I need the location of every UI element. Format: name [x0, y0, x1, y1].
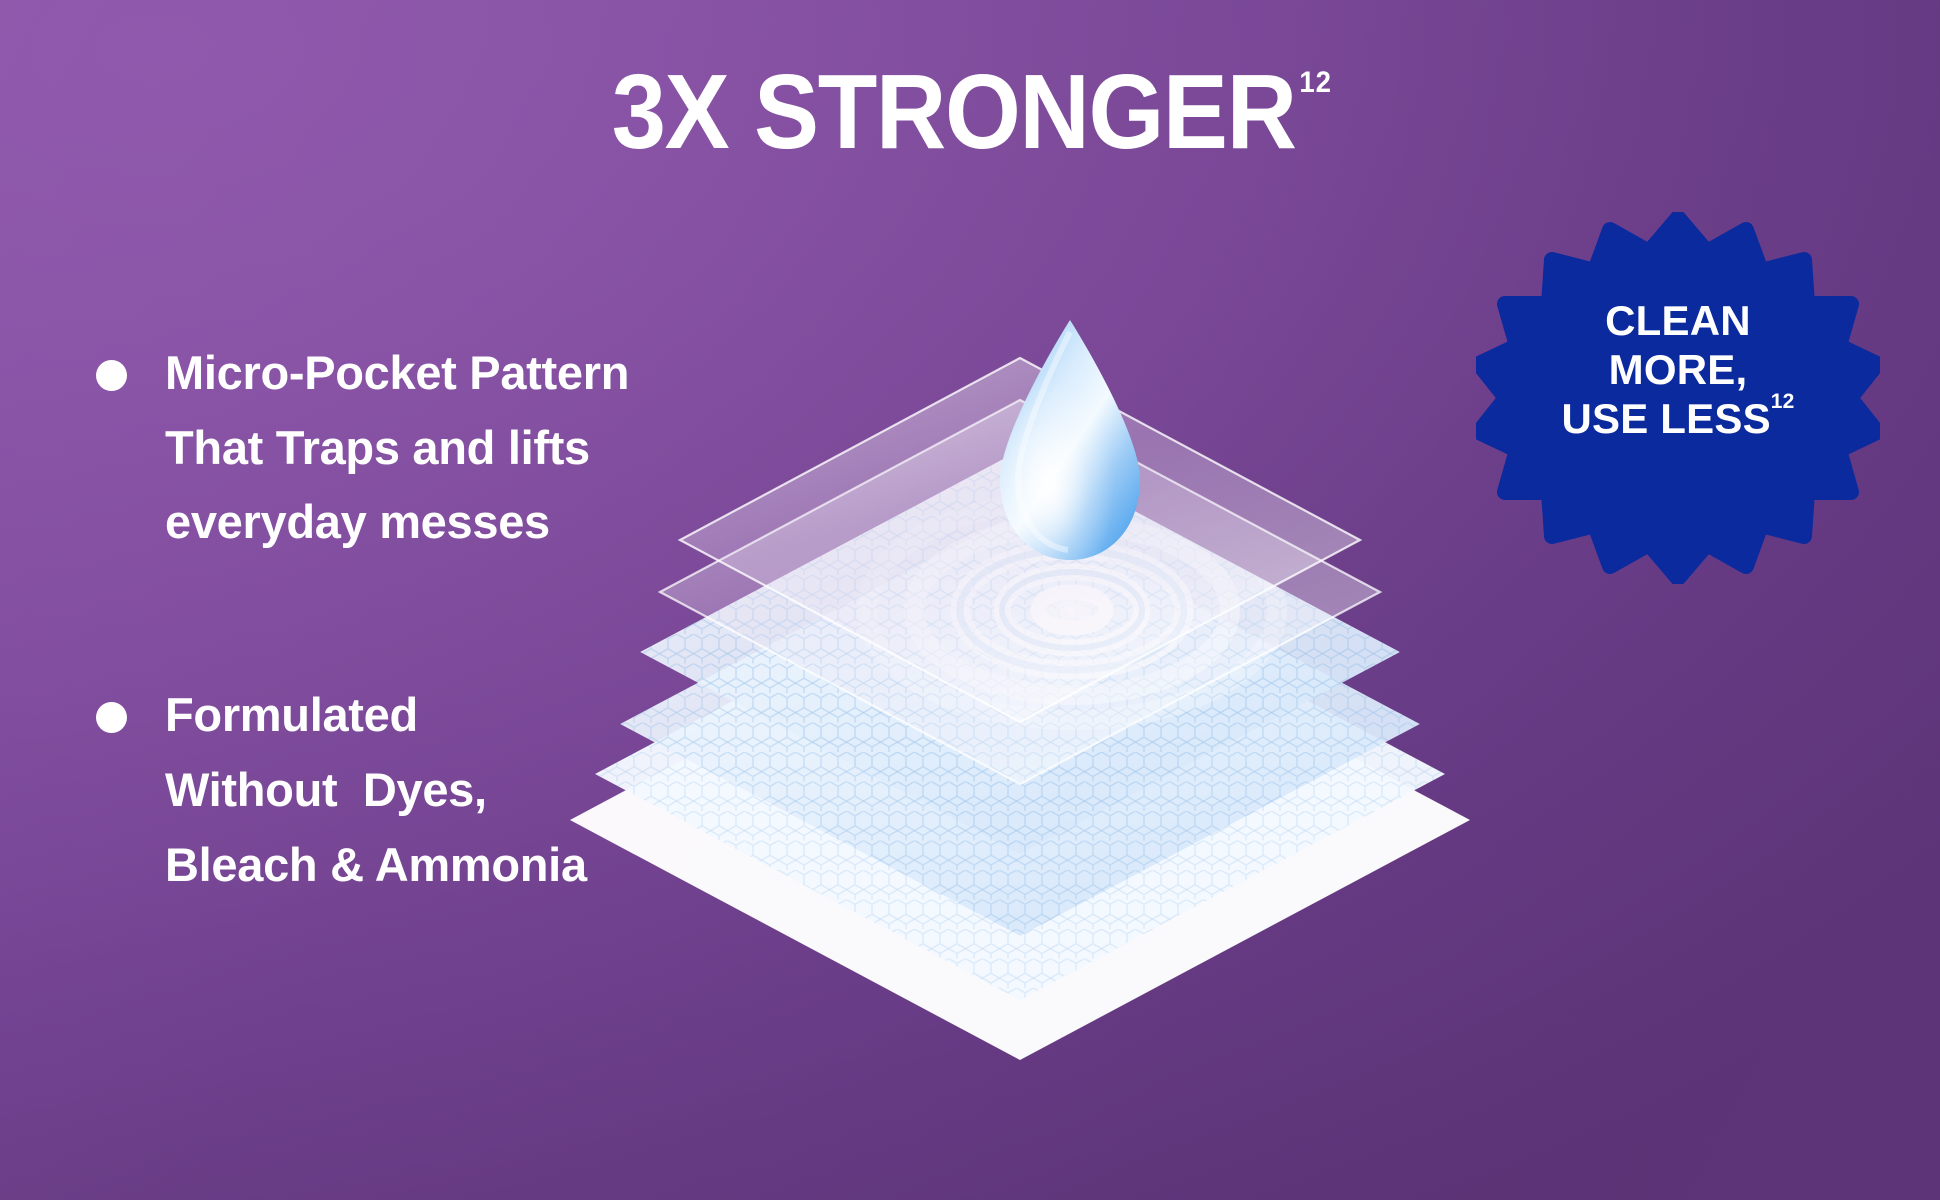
- headline-superscript: 12: [1299, 66, 1332, 99]
- list-item: Formulated Without Dyes, Bleach & Ammoni…: [96, 678, 856, 902]
- headline-text: 3X STRONGER: [612, 53, 1296, 171]
- badge-superscript: 12: [1771, 390, 1795, 413]
- feature-bullet-list: Micro-Pocket Pattern That Traps and lift…: [96, 336, 856, 902]
- water-droplet-icon: [1000, 320, 1140, 560]
- badge-label: CLEAN MORE, USE LESS12: [1476, 296, 1880, 443]
- status-badge: CLEAN MORE, USE LESS12: [1476, 212, 1880, 584]
- bullet-dot-icon: [96, 702, 127, 733]
- page-title: 3X STRONGER12: [78, 58, 1863, 166]
- bullet-dot-icon: [96, 360, 127, 391]
- bullet-text: Formulated Without Dyes, Bleach & Ammoni…: [165, 678, 587, 902]
- promo-banner: 3X STRONGER12 Micro-Pocket Pattern That …: [0, 0, 1940, 1200]
- bullet-text: Micro-Pocket Pattern That Traps and lift…: [165, 336, 629, 560]
- list-item: Micro-Pocket Pattern That Traps and lift…: [96, 336, 856, 560]
- badge-text: CLEAN MORE, USE LESS: [1561, 297, 1770, 442]
